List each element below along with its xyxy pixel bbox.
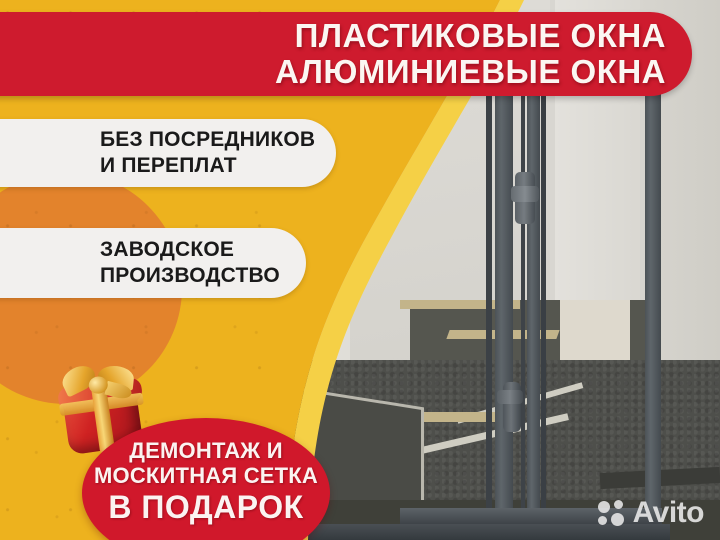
avito-wordmark: Avito: [633, 498, 704, 528]
door-frame-edge: [486, 88, 492, 540]
door-frame-post-left: [495, 88, 513, 540]
feature-2-line-2: ПРОИЗВОДСТВО: [100, 263, 306, 289]
feature-2-line-1: ЗАВОДСКОЕ: [100, 237, 306, 263]
door-handle-upper: [515, 172, 535, 224]
gift-badge-line-3: В ПОДАРОК: [108, 490, 303, 525]
gift-offer-badge: ДЕМОНТАЖ И МОСКИТНАЯ СЕТКА В ПОДАРОК: [82, 418, 330, 540]
avito-logo-icon: [598, 500, 626, 526]
door-frame-divider: [541, 88, 546, 540]
gift-badge-line-2: МОСКИТНАЯ СЕТКА: [94, 463, 318, 488]
feature-pill-factory-production: ЗАВОДСКОЕ ПРОИЗВОДСТВО: [0, 228, 306, 298]
feature-1-line-1: БЕЗ ПОСРЕДНИКОВ: [100, 127, 336, 153]
headline-line-2: АЛЮМИНИЕВЫЕ ОКНА: [275, 55, 666, 89]
advertisement-banner: ПЛАСТИКОВЫЕ ОКНА АЛЮМИНИЕВЫЕ ОКНА БЕЗ ПО…: [0, 0, 720, 540]
avito-watermark: Avito: [598, 498, 704, 528]
door-lock-rod: [521, 96, 525, 516]
door-frame-post-center: [527, 88, 540, 540]
headline-banner: ПЛАСТИКОВЫЕ ОКНА АЛЮМИНИЕВЫЕ ОКНА: [0, 12, 692, 96]
feature-pill-no-intermediaries: БЕЗ ПОСРЕДНИКОВ И ПЕРЕПЛАТ: [0, 119, 336, 187]
door-frame-post-right: [645, 88, 661, 508]
gift-badge-line-1: ДЕМОНТАЖ И: [129, 438, 282, 463]
door-handle-lower: [503, 382, 521, 432]
headline-line-1: ПЛАСТИКОВЫЕ ОКНА: [295, 19, 666, 53]
feature-1-line-2: И ПЕРЕПЛАТ: [100, 153, 336, 179]
